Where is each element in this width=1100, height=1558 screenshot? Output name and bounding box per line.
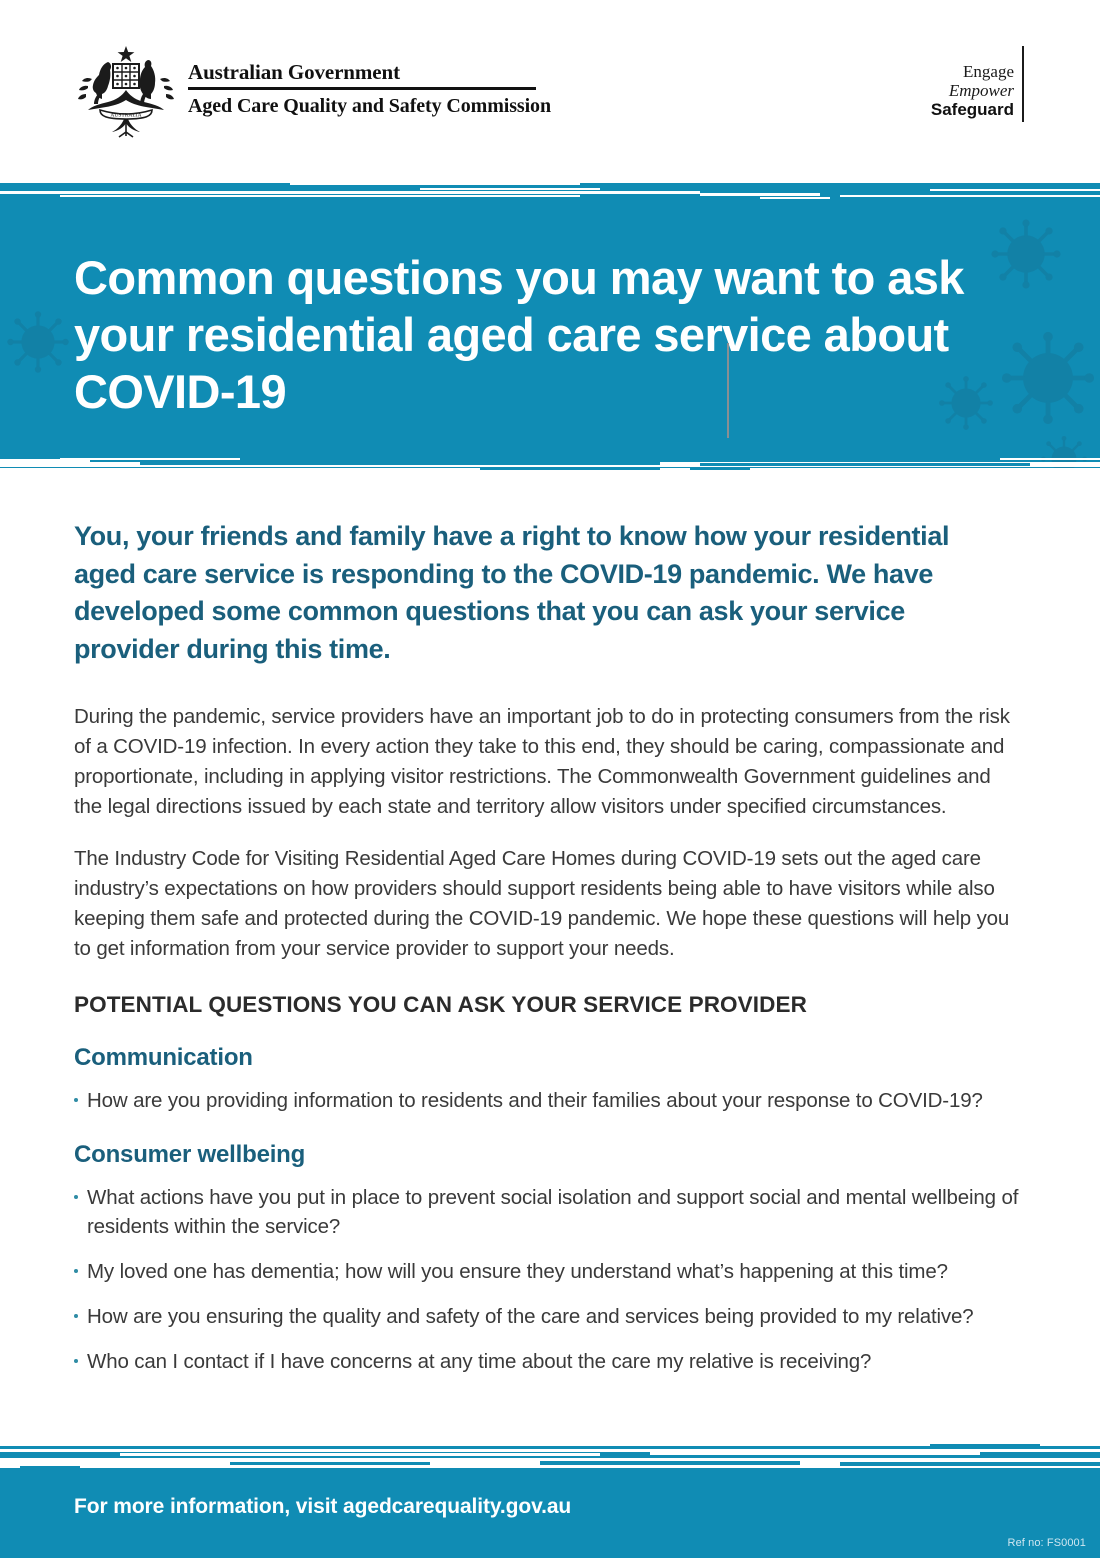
- body-paragraph-1: During the pandemic, service providers h…: [74, 702, 1024, 822]
- tagline-engage: Engage: [931, 62, 1014, 81]
- svg-text:AUSTRALIA: AUSTRALIA: [110, 113, 141, 119]
- tagline-safeguard: Safeguard: [931, 100, 1014, 119]
- question-list-consumer-wellbeing: What actions have you put in place to pr…: [74, 1183, 1026, 1376]
- government-lockup: Australian Government Aged Care Quality …: [188, 60, 548, 118]
- list-item: Who can I contact if I have concerns at …: [74, 1347, 1047, 1376]
- tagline-divider: [1022, 46, 1024, 122]
- page-header: AUSTRALIA Australian Government Aged Car…: [0, 0, 1100, 172]
- section-heading: POTENTIAL QUESTIONS YOU CAN ASK YOUR SER…: [74, 992, 1026, 1018]
- question-list-communication: How are you providing information to res…: [74, 1086, 1026, 1115]
- list-item: How are you providing information to res…: [74, 1086, 1047, 1115]
- lockup-divider: [188, 87, 536, 90]
- tagline-empower: Empower: [931, 81, 1014, 100]
- footer-info-text[interactable]: For more information, visit agedcarequal…: [74, 1495, 571, 1519]
- commission-name-text: Aged Care Quality and Safety Commission: [188, 94, 548, 118]
- title-banner: Common questions you may want to ask you…: [0, 180, 1100, 468]
- subheading-consumer-wellbeing: Consumer wellbeing: [74, 1141, 1026, 1169]
- text-cursor-caret: [727, 343, 729, 438]
- coronavirus-icon: [1040, 435, 1088, 468]
- australian-government-text: Australian Government: [188, 60, 548, 84]
- list-item: How are you ensuring the quality and saf…: [74, 1302, 1047, 1331]
- tagline: Engage Empower Safeguard: [931, 62, 1014, 119]
- list-item: What actions have you put in place to pr…: [74, 1183, 1047, 1241]
- reference-number: Ref no: FS0001: [1008, 1537, 1086, 1549]
- main-content: You, your friends and family have a righ…: [74, 518, 1026, 1392]
- australian-coat-of-arms-icon: AUSTRALIA: [72, 44, 180, 140]
- lead-paragraph: You, your friends and family have a righ…: [74, 518, 954, 668]
- page-title: Common questions you may want to ask you…: [74, 249, 1034, 420]
- list-item: My loved one has dementia; how will you …: [74, 1257, 1047, 1286]
- body-paragraph-2: The Industry Code for Visiting Residenti…: [74, 844, 1024, 964]
- coronavirus-icon: [6, 310, 70, 374]
- page-footer: For more information, visit agedcarequal…: [0, 1468, 1100, 1558]
- subheading-communication: Communication: [74, 1044, 1026, 1072]
